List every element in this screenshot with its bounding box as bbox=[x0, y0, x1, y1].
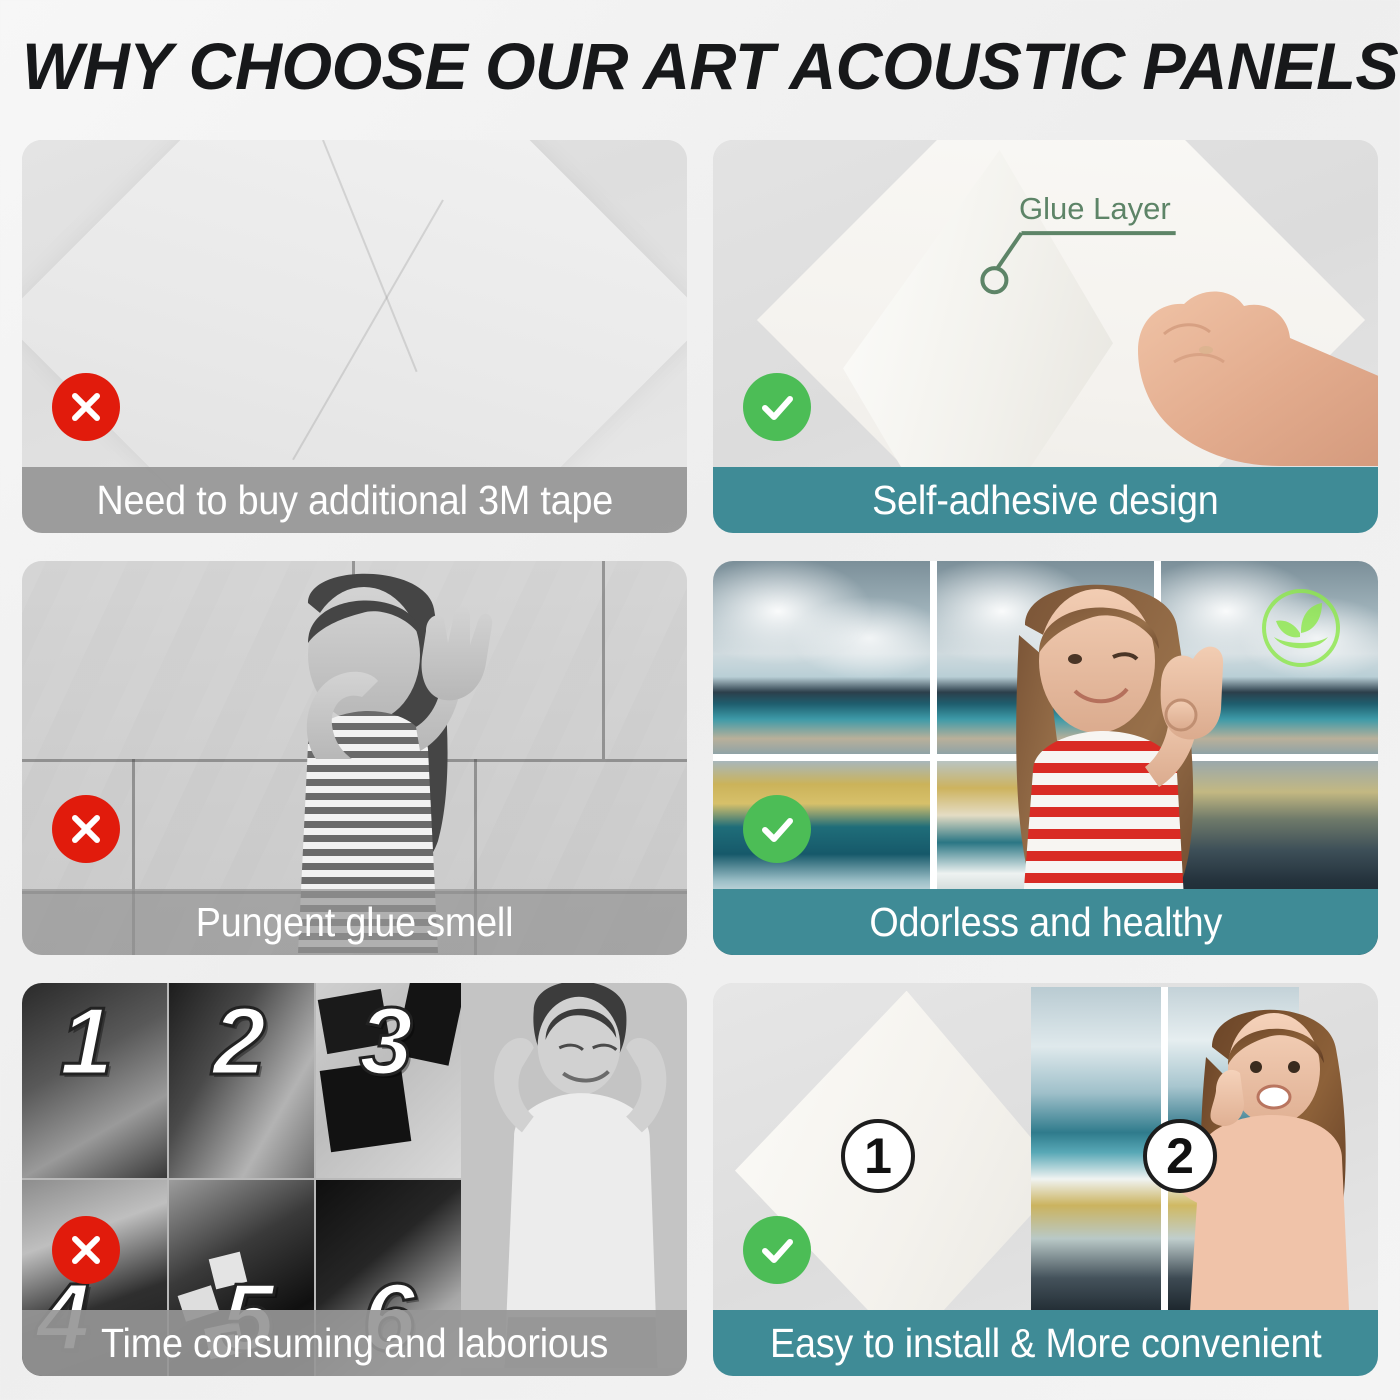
step-number: 2 bbox=[212, 994, 265, 1090]
card-time-consuming: 1 2 3 4 5 bbox=[22, 983, 687, 1376]
step-cell: 3 bbox=[316, 983, 461, 1179]
card-caption: Pungent glue smell bbox=[22, 889, 687, 955]
card-easy-install: 1 2 bbox=[713, 983, 1378, 1376]
close-icon bbox=[64, 385, 108, 429]
card-pungent-smell: Pungent glue smell bbox=[22, 561, 687, 954]
card-caption-text: Odorless and healthy bbox=[869, 901, 1222, 943]
eco-leaf-icon bbox=[1260, 587, 1342, 669]
card-caption: Easy to install & More convenient bbox=[713, 1310, 1378, 1376]
close-icon bbox=[64, 807, 108, 851]
comparison-grid: Need to buy additional 3M tape bbox=[22, 140, 1378, 1376]
check-badge bbox=[743, 1216, 811, 1284]
check-badge bbox=[743, 373, 811, 441]
close-icon bbox=[64, 1228, 108, 1272]
card-need-3m-tape: Need to buy additional 3M tape bbox=[22, 140, 687, 533]
check-icon bbox=[755, 385, 799, 429]
step-cell: 1 bbox=[22, 983, 167, 1179]
card-caption-text: Easy to install & More convenient bbox=[770, 1322, 1322, 1364]
page-title: WHY CHOOSE OUR ART ACOUSTIC PANELS? bbox=[22, 30, 1362, 102]
art-tile bbox=[713, 561, 930, 754]
card-caption: Need to buy additional 3M tape bbox=[22, 467, 687, 533]
install-step-number: 2 bbox=[1143, 1119, 1217, 1193]
check-icon bbox=[755, 807, 799, 851]
install-step-number: 1 bbox=[841, 1119, 915, 1193]
check-icon bbox=[755, 1228, 799, 1272]
card-caption-text: Time consuming and laborious bbox=[101, 1322, 608, 1364]
x-badge bbox=[52, 795, 120, 863]
x-badge bbox=[52, 1216, 120, 1284]
card-caption: Odorless and healthy bbox=[713, 889, 1378, 955]
step-number: 3 bbox=[359, 994, 412, 1090]
card-caption-text: Need to buy additional 3M tape bbox=[96, 479, 613, 521]
card-caption: Self-adhesive design bbox=[713, 467, 1378, 533]
step-number: 1 bbox=[60, 994, 113, 1090]
card-odorless-healthy: Odorless and healthy bbox=[713, 561, 1378, 954]
hand-icon bbox=[988, 230, 1378, 500]
step-cell: 2 bbox=[169, 983, 314, 1179]
card-self-adhesive: Glue Layer Self-adhesive design bbox=[713, 140, 1378, 533]
card-caption-text: Self-adhesive design bbox=[872, 479, 1219, 521]
check-badge bbox=[743, 795, 811, 863]
glue-layer-label: Glue Layer bbox=[1019, 192, 1171, 226]
card-caption: Time consuming and laborious bbox=[22, 1310, 687, 1376]
card-caption-text: Pungent glue smell bbox=[196, 901, 514, 943]
x-badge bbox=[52, 373, 120, 441]
